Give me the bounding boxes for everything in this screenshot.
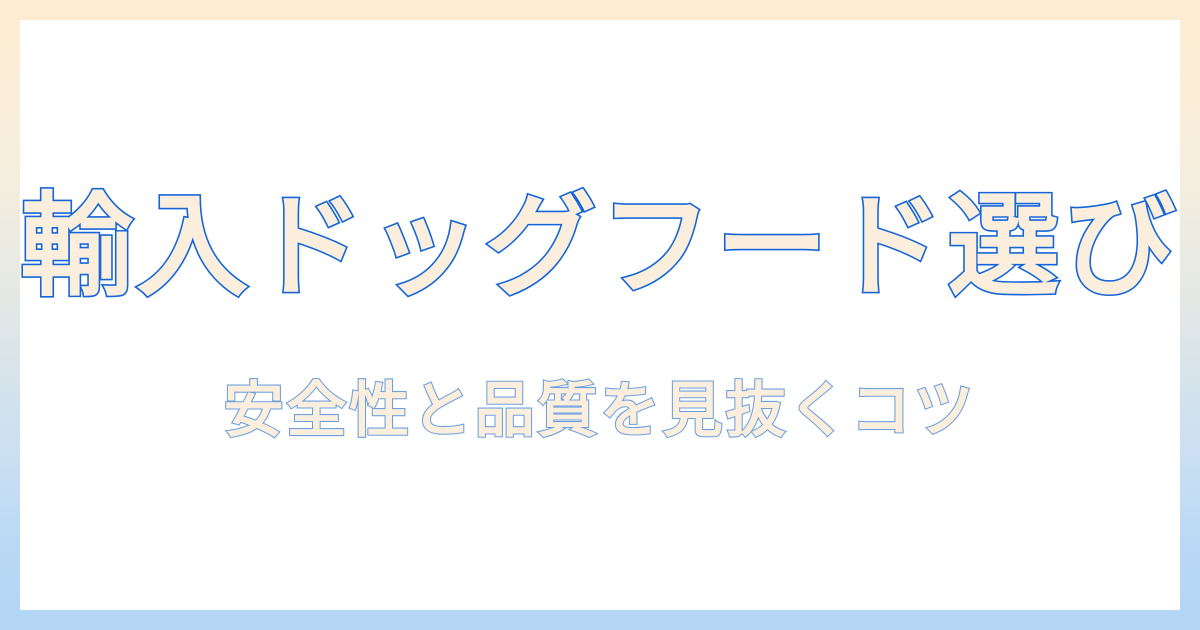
page-title: 輸入ドッグフード選び: [20, 188, 1179, 307]
page-subtitle: 安全性と品質を見抜くコツ: [224, 378, 976, 444]
eyecatch-card: 輸入ドッグフード選び 安全性と品質を見抜くコツ: [0, 0, 1200, 630]
hero-content: 輸入ドッグフード選び 安全性と品質を見抜くコツ: [20, 20, 1180, 610]
subtitle-block: 安全性と品質を見抜くコツ: [20, 378, 1180, 444]
title-block: 輸入ドッグフード選び: [20, 188, 1180, 307]
